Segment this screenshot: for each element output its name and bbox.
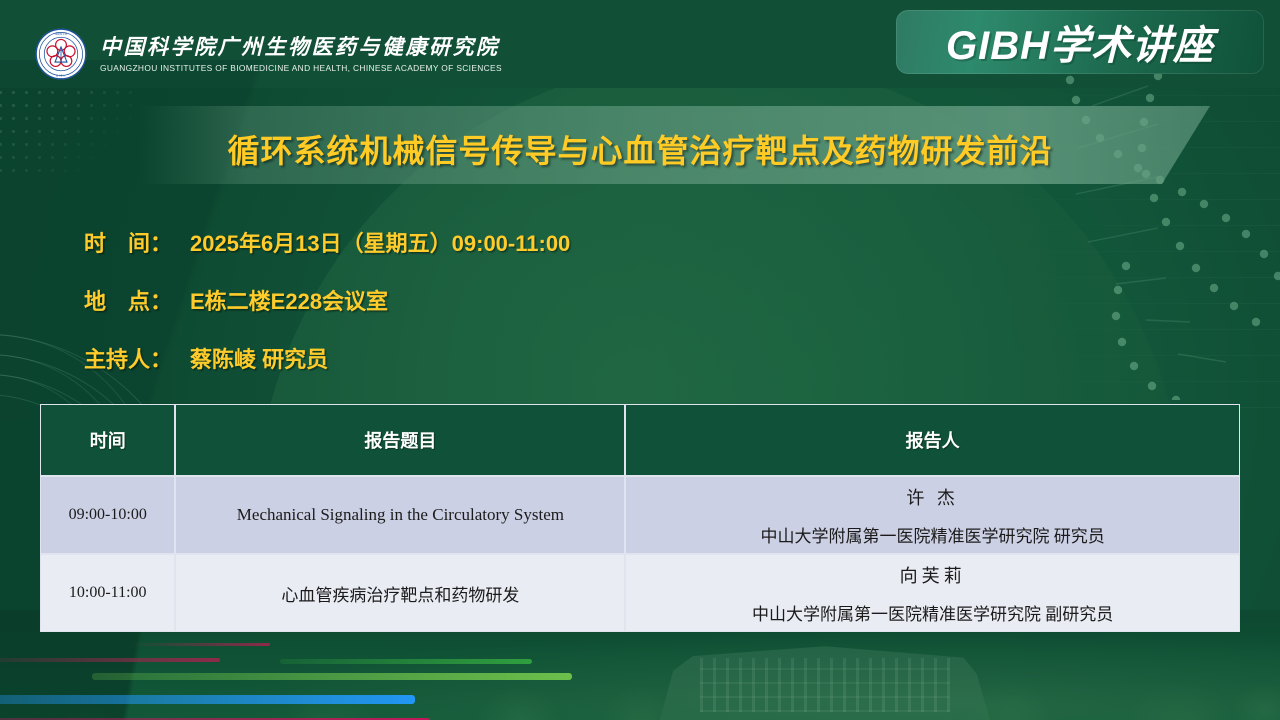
svg-text:GIBH: GIBH — [56, 74, 66, 78]
gibh-lecture-badge: GIBH学术讲座 — [896, 10, 1264, 74]
poster-canvas: 中国科学院 GIBH 中国科学院广州生物医药与健康研究院 GUANGZHOU I… — [0, 0, 1280, 720]
info-value-location: E栋二楼E228会议室 — [190, 289, 388, 314]
cell-speaker: 向芙莉 中山大学附属第一医院精准医学研究院 副研究员 — [625, 554, 1240, 632]
column-header-speaker: 报告人 — [625, 404, 1240, 476]
cell-topic: 心血管疾病治疗靶点和药物研发 — [175, 554, 625, 632]
info-label-time: 时 间： — [84, 226, 190, 258]
info-label-host: 主持人： — [84, 342, 190, 374]
info-row-location: 地 点：E栋二楼E228会议室 — [84, 284, 984, 316]
cell-speaker: 许 杰 中山大学附属第一医院精准医学研究院 研究员 — [625, 476, 1240, 554]
speaker-name: 向芙莉 — [900, 562, 966, 588]
page-title: 循环系统机械信号传导与心血管治疗靶点及药物研发前沿 — [0, 126, 1280, 172]
column-header-topic: 报告题目 — [175, 404, 625, 476]
cell-time: 09:00-10:00 — [40, 476, 175, 554]
institute-logo: 中国科学院 GIBH 中国科学院广州生物医药与健康研究院 GUANGZHOU I… — [34, 27, 502, 81]
speaker-block: 许 杰 中山大学附属第一医院精准医学研究院 研究员 — [626, 480, 1239, 551]
event-info: 时 间：2025年6月13日（星期五）09:00-11:00 地 点：E栋二楼E… — [84, 226, 984, 400]
info-row-host: 主持人：蔡陈崚 研究员 — [84, 342, 984, 374]
gibh-emblem-icon: 中国科学院 GIBH — [34, 27, 88, 81]
info-value-time: 2025年6月13日（星期五）09:00-11:00 — [190, 231, 570, 256]
column-header-time: 时间 — [40, 404, 175, 476]
schedule-table-head: 时间 报告题目 报告人 — [40, 404, 1240, 476]
table-header-row: 时间 报告题目 报告人 — [40, 404, 1240, 476]
table-row: 09:00-10:00 Mechanical Signaling in the … — [40, 476, 1240, 554]
table-row: 10:00-11:00 心血管疾病治疗靶点和药物研发 向芙莉 中山大学附属第一医… — [40, 554, 1240, 632]
speaker-name: 许 杰 — [906, 484, 959, 510]
svg-text:中国科学院: 中国科学院 — [55, 32, 68, 36]
speaker-affiliation: 中山大学附属第一医院精准医学研究院 副研究员 — [752, 600, 1113, 625]
cell-time: 10:00-11:00 — [40, 554, 175, 632]
institute-name-en: GUANGZHOU INSTITUTES OF BIOMEDICINE AND … — [100, 63, 502, 73]
info-row-time: 时 间：2025年6月13日（星期五）09:00-11:00 — [84, 226, 984, 258]
cell-topic: Mechanical Signaling in the Circulatory … — [175, 476, 625, 554]
speaker-block: 向芙莉 中山大学附属第一医院精准医学研究院 副研究员 — [626, 558, 1239, 629]
gibh-lecture-badge-label: GIBH学术讲座 — [946, 13, 1214, 71]
schedule-table: 时间 报告题目 报告人 09:00-10:00 Mechanical Signa… — [40, 404, 1240, 632]
schedule-table-body: 09:00-10:00 Mechanical Signaling in the … — [40, 476, 1240, 632]
info-value-host: 蔡陈崚 研究员 — [190, 347, 328, 372]
speaker-affiliation: 中山大学附属第一医院精准医学研究院 研究员 — [761, 522, 1105, 547]
institute-name-cn: 中国科学院广州生物医药与健康研究院 — [100, 35, 502, 59]
info-label-location: 地 点： — [84, 284, 190, 316]
